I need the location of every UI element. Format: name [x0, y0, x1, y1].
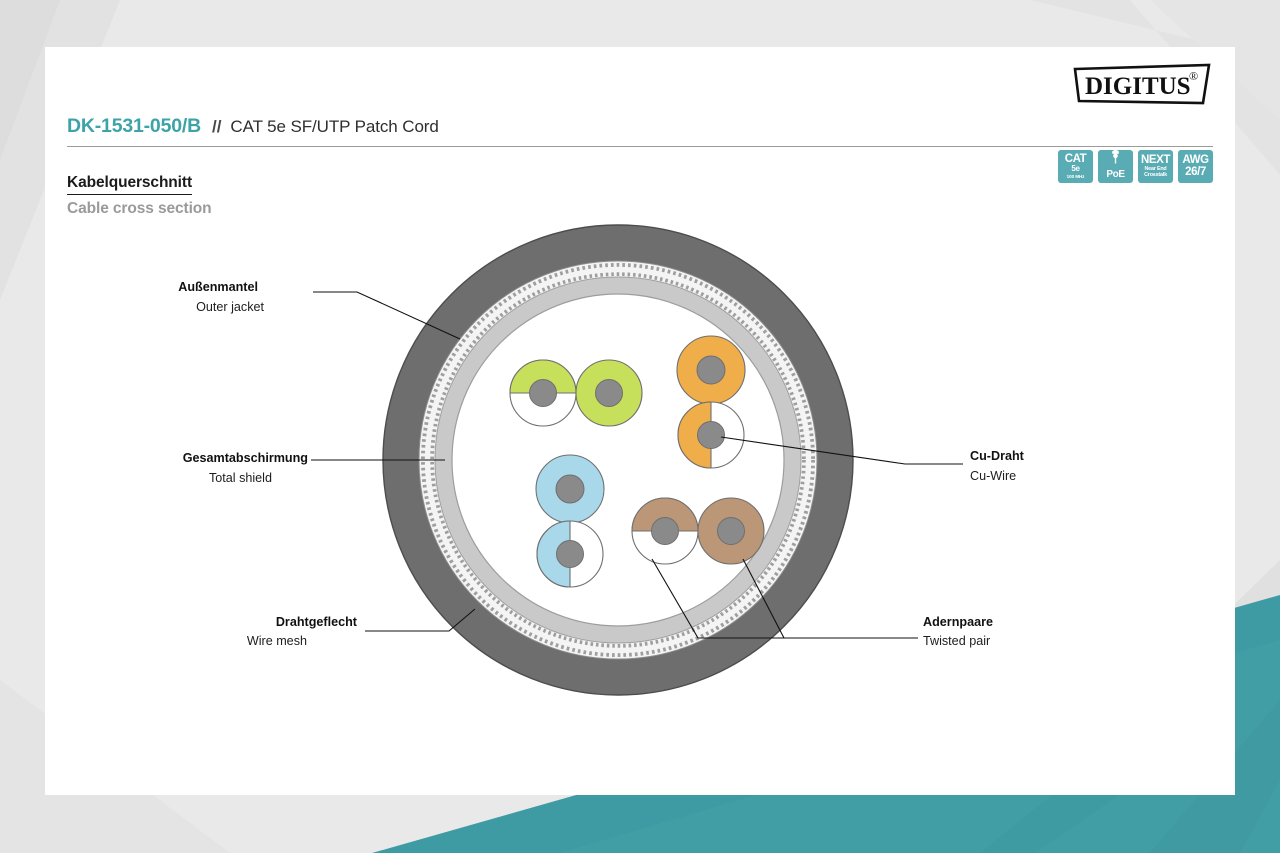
- brown-striped-wire: [632, 498, 698, 564]
- green-solid-wire: [576, 360, 642, 426]
- callout-cu-wire-en: Cu-Wire: [970, 469, 1016, 483]
- cable-cross-section-diagram: Außenmantel Outer jacket Gesamtabschirmu…: [45, 47, 1235, 795]
- callout-total-shield-de: Gesamtabschirmung: [183, 451, 308, 465]
- orange-striped-wire: [678, 402, 744, 468]
- cable-rings: [383, 225, 853, 695]
- orange-solid-wire: [677, 336, 745, 404]
- cu-conductor: [557, 541, 584, 568]
- callout-cu-wire-de: Cu-Draht: [970, 449, 1025, 463]
- callout-total-shield-en: Total shield: [209, 471, 272, 485]
- cu-conductor: [530, 380, 557, 407]
- blue-striped-wire: [537, 521, 603, 587]
- cable-core: [452, 294, 784, 626]
- callout-outer-jacket-de: Außenmantel: [178, 280, 258, 294]
- blue-solid-wire: [536, 455, 604, 523]
- cu-conductor: [697, 356, 725, 384]
- cu-conductor: [652, 518, 679, 545]
- cu-conductor: [556, 475, 584, 503]
- cu-conductor: [596, 380, 623, 407]
- slide-canvas: DIGITUS ® DK-1531-050/B // CAT 5e SF/UTP…: [0, 0, 1280, 853]
- callout-twisted-pair-en: Twisted pair: [923, 634, 990, 648]
- callout-outer-jacket-en: Outer jacket: [196, 300, 264, 314]
- callout-twisted-pair-de: Adernpaare: [923, 615, 993, 629]
- callout-wire-mesh-de: Drahtgeflecht: [276, 615, 358, 629]
- green-striped-wire: [510, 360, 576, 426]
- callout-wire-mesh-en: Wire mesh: [247, 634, 307, 648]
- brown-solid-wire: [698, 498, 764, 564]
- callout-outer-jacket: Außenmantel Outer jacket: [178, 280, 460, 339]
- cu-conductor: [698, 422, 725, 449]
- cu-conductor: [718, 518, 745, 545]
- content-card: DIGITUS ® DK-1531-050/B // CAT 5e SF/UTP…: [45, 47, 1235, 795]
